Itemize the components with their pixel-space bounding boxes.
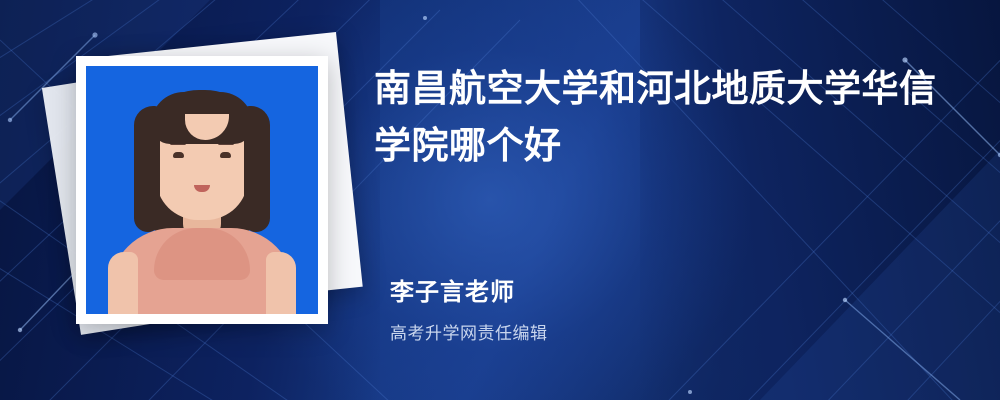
- photo-card-stack: [48, 38, 368, 358]
- article-cover-banner: 南昌航空大学和河北地质大学华信学院哪个好 李子言老师 高考升学网责任编辑: [0, 0, 1000, 400]
- portrait-arm-left: [108, 252, 138, 314]
- portrait-eye-right: [220, 152, 231, 158]
- portrait-hair-right: [244, 106, 270, 232]
- page-title: 南昌航空大学和河北地质大学华信学院哪个好: [374, 60, 964, 175]
- author-name: 李子言老师: [390, 272, 950, 307]
- author-role: 高考升学网责任编辑: [390, 319, 950, 344]
- portrait-eye-left: [173, 152, 184, 158]
- portrait-photo: [86, 66, 318, 314]
- photo-card-front: [76, 56, 328, 324]
- portrait-fringe: [151, 92, 253, 144]
- author-block: 李子言老师 高考升学网责任编辑: [390, 272, 950, 344]
- portrait-hair-left: [134, 106, 160, 232]
- headline-block: 南昌航空大学和河北地质大学华信学院哪个好: [374, 60, 964, 175]
- portrait-arm-right: [266, 252, 296, 314]
